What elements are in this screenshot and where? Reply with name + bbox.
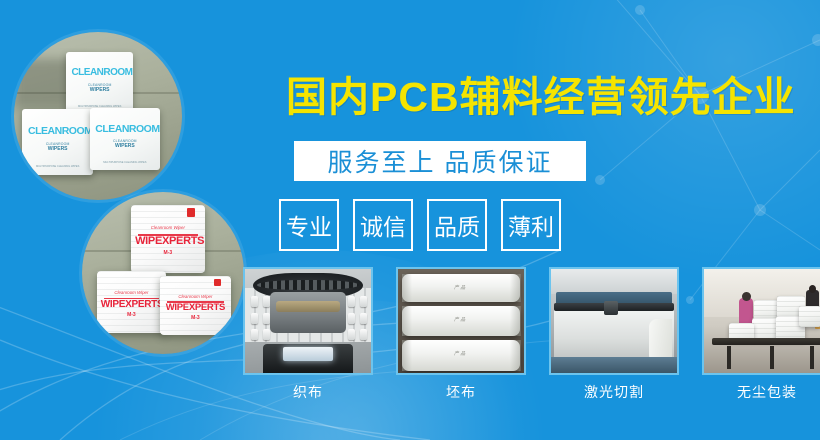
pack-script-label: Cleanroom Wiper <box>104 290 160 295</box>
keyword-label: 诚信 <box>360 208 406 242</box>
pack-brand-label: WIPEXPERTS <box>164 303 227 313</box>
pack-sub-line2: WIPERS <box>28 147 87 153</box>
cleanroom-pack: CLEANROOM CLEANROOM WIPERS MULTIPURPOSE … <box>22 109 93 175</box>
keyword-box-chengxin: 诚信 <box>353 199 413 251</box>
keyword-box-zhuanye: 专业 <box>279 199 339 251</box>
thumbnail-frame: 产 品 产 品 产 品 <box>396 267 526 375</box>
keyword-label: 专业 <box>286 208 332 242</box>
keyword-label: 薄利 <box>508 208 554 242</box>
keyword-box-pinzhi: 品质 <box>427 199 487 251</box>
thumbnail-item-cleanroom-packaging: 无尘包装 <box>702 267 820 402</box>
pack-brand-label: CLEANROOM <box>71 68 127 78</box>
fabric-rolls-photo: 产 品 产 品 产 品 <box>398 269 524 373</box>
keyword-label: 品质 <box>434 208 480 242</box>
keyword-box-group: 专业 诚信 品质 薄利 <box>279 199 561 251</box>
pack-code-label: M-3 <box>117 312 145 318</box>
pack-brand-label: CLEANROOM <box>28 126 87 137</box>
pack-sub-line2: WIPERS <box>95 144 154 150</box>
wipexperts-pack: Cleanroom Wiper WIPEXPERTS M-3 <box>131 205 206 273</box>
thumbnail-item-weaving: 织布 <box>243 267 373 402</box>
pack-script-label: Cleanroom Wiper <box>138 225 198 230</box>
thumbnail-caption: 织布 <box>243 382 373 402</box>
thumbnail-frame <box>243 267 373 375</box>
cleanroom-pack: CLEANROOM CLEANROOM WIPERS MULTIPURPOSE … <box>66 52 133 114</box>
promo-banner: CLEANROOM CLEANROOM WIPERS MULTIPURPOSE … <box>0 0 820 440</box>
thumbnail-caption: 坯布 <box>396 382 526 402</box>
subtitle-band: 服务至上 品质保证 <box>294 141 586 181</box>
thumbnail-caption: 激光切割 <box>549 382 679 402</box>
banner-headline: 国内PCB辅料经营领先企业 <box>286 76 796 119</box>
keyword-box-baoli: 薄利 <box>501 199 561 251</box>
product-photo-wipexperts: Cleanroom Wiper WIPEXPERTS M-3 Cleanroom… <box>82 192 244 354</box>
pack-code-label: M-3 <box>181 315 210 321</box>
thumbnail-frame <box>549 267 679 375</box>
thumbnail-item-laser-cutting: 激光切割 <box>549 267 679 402</box>
pack-sub-label: CLEANROOM WIPERS <box>71 84 127 94</box>
process-thumbnail-group: 织布 产 品 产 品 产 品 坯布 <box>243 267 820 402</box>
thumbnail-item-greige-fabric: 产 品 产 品 产 品 坯布 <box>396 267 526 402</box>
wipexperts-pack: Cleanroom Wiper WIPEXPERTS M-3 <box>97 271 167 333</box>
pack-sub-label: CLEANROOM WIPERS <box>28 143 87 153</box>
pack-sub-label: CLEANROOM WIPERS <box>95 140 154 150</box>
pack-brand-label: WIPEXPERTS <box>135 236 201 247</box>
pack-brand-label: CLEANROOM <box>95 124 154 135</box>
pack-brand-label: WIPEXPERTS <box>101 300 162 310</box>
pack-foot-label: MULTIPURPOSE CLEANING WIPES <box>97 161 153 164</box>
pack-code-label: M-3 <box>153 250 183 256</box>
laser-cutter-photo <box>551 269 677 373</box>
pack-script-label: Cleanroom Wiper <box>167 294 224 299</box>
thumbnail-frame <box>702 267 820 375</box>
thumbnail-caption: 无尘包装 <box>702 382 820 402</box>
knitting-machine-photo <box>245 269 371 373</box>
pack-foot-label: MULTIPURPOSE CLEANING WIPES <box>29 165 85 168</box>
product-photo-cleanroom: CLEANROOM CLEANROOM WIPERS MULTIPURPOSE … <box>14 32 182 200</box>
cleanroom-pack: CLEANROOM CLEANROOM WIPERS MULTIPURPOSE … <box>90 108 161 170</box>
red-tag <box>187 208 194 217</box>
subtitle-text: 服务至上 品质保证 <box>328 143 553 179</box>
wipexperts-pack: Cleanroom Wiper WIPEXPERTS M-3 <box>160 276 231 334</box>
packaging-room-photo <box>704 269 820 373</box>
pack-sub-line2: WIPERS <box>71 88 127 94</box>
red-tag <box>214 279 221 287</box>
